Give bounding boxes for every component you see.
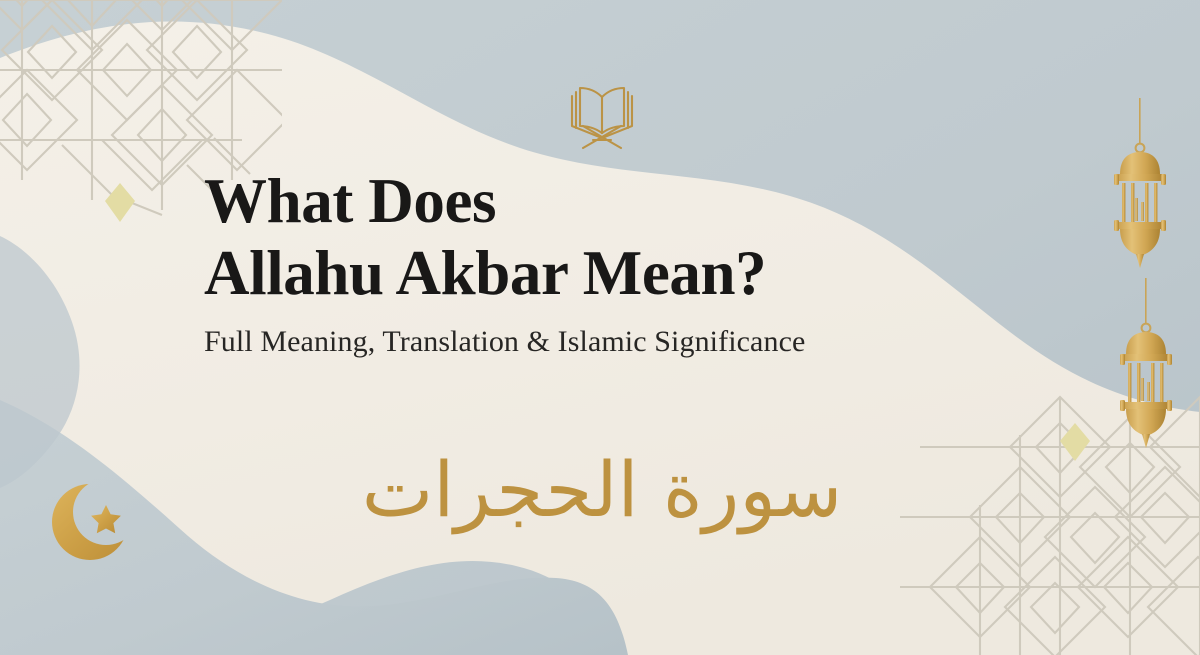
page-title: What Does Allahu Akbar Mean? — [204, 166, 994, 310]
arabic-calligraphy: سورة الحجرات — [452, 416, 752, 564]
hanging-lantern-icon — [1110, 278, 1182, 448]
quran-book-icon — [563, 76, 641, 154]
arabic-calligraphy-text: سورة الحجرات — [452, 416, 752, 564]
hanging-lantern-icon — [1104, 98, 1176, 268]
page-subtitle: Full Meaning, Translation & Islamic Sign… — [204, 324, 994, 360]
crescent-moon-icon — [44, 476, 140, 568]
hanging-lantern-lower — [1110, 278, 1182, 448]
islamic-article-banner: What Does Allahu Akbar Mean? Full Meanin… — [0, 0, 1200, 655]
headline-block: What Does Allahu Akbar Mean? Full Meanin… — [204, 166, 994, 360]
hanging-lantern-upper — [1104, 98, 1176, 268]
crescent-moon-and-star-icon — [44, 476, 140, 568]
open-quran-on-rehal-icon — [563, 76, 641, 154]
